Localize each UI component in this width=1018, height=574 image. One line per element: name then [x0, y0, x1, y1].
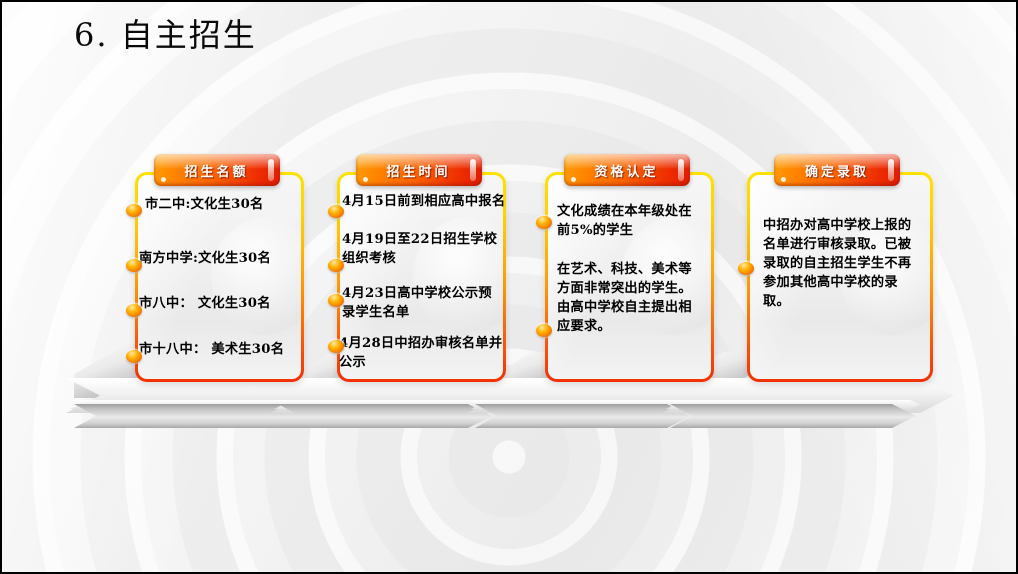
card-header-label: 确定录取: [805, 161, 869, 180]
card-header-4[interactable]: 确定录取: [774, 154, 900, 186]
list-item: 市二中:文化生30名: [145, 195, 292, 214]
process-card-2[interactable]: 招生时间 4月15日前到相应高中报名 4月19日至22日招生学校组织考核 4月2…: [337, 154, 500, 382]
bullet-marker: [536, 216, 552, 229]
card-header-1[interactable]: 招生名额: [154, 154, 280, 186]
bullet-marker: [328, 205, 344, 218]
bullet-marker: [126, 304, 142, 317]
list-item: 市十八中： 美术生30名: [139, 340, 292, 359]
header-highlight-bar: [678, 159, 684, 181]
card-header-label: 招生时间: [386, 161, 450, 180]
header-highlight-dot: [781, 177, 786, 182]
bullet-marker: [126, 259, 142, 272]
header-highlight-bar: [470, 159, 476, 181]
header-highlight-dot: [161, 177, 166, 182]
platform-front-face: [670, 404, 916, 428]
list-item: 市八中： 文化生30名: [139, 294, 292, 313]
bullet-marker: [126, 204, 142, 217]
bullet-marker: [328, 340, 344, 353]
paragraph: 中招办对高中学校上报的名单进行审核录取。已被录取的自主招生学生不再参加其他高中学…: [763, 216, 915, 311]
header-highlight-dot: [363, 177, 368, 182]
list-item: 南方中学:文化生30名: [139, 249, 292, 268]
paragraph: 在艺术、科技、美术等方面非常突出的学生。由高中学校自主提出相应要求。: [557, 260, 700, 336]
list-item: 4月15日前到相应高中报名: [342, 192, 506, 211]
bullet-marker: [328, 294, 344, 307]
card-header-label: 招生名额: [184, 161, 248, 180]
bullet-marker: [328, 259, 344, 272]
bullet-marker: [126, 350, 142, 363]
page-title: 6. 自主招生: [74, 10, 257, 56]
list-item: 4月28日中招办审核名单并公示: [339, 334, 504, 372]
process-card-3[interactable]: 资格认定 文化成绩在本年级处在前5%的学生 在艺术、科技、美术等方面非常突出的学…: [545, 154, 708, 382]
list-item: 4月23日高中学校公示预录学生名单: [342, 284, 500, 322]
header-highlight-dot: [571, 177, 576, 182]
paragraph: 文化成绩在本年级处在前5%的学生: [557, 202, 700, 240]
presentation-slide: 6. 自主招生: [0, 0, 1018, 574]
card-header-3[interactable]: 资格认定: [564, 154, 690, 186]
card-header-2[interactable]: 招生时间: [356, 154, 482, 186]
platform-step-4: [662, 378, 954, 436]
header-highlight-bar: [268, 159, 274, 181]
process-card-4[interactable]: 确定录取 中招办对高中学校上报的名单进行审核录取。已被录取的自主招生学生不再参加…: [747, 154, 927, 382]
card-header-label: 资格认定: [594, 161, 658, 180]
list-item: 4月19日至22日招生学校组织考核: [342, 230, 500, 268]
platform-front-face: [475, 404, 691, 428]
process-card-1[interactable]: 招生名额 市二中:文化生30名 南方中学:文化生30名 市八中： 文化生30名 …: [135, 154, 298, 382]
platform-front-face: [278, 404, 492, 428]
bullet-marker: [738, 262, 754, 275]
bullet-marker: [536, 324, 552, 337]
header-highlight-bar: [888, 159, 894, 181]
